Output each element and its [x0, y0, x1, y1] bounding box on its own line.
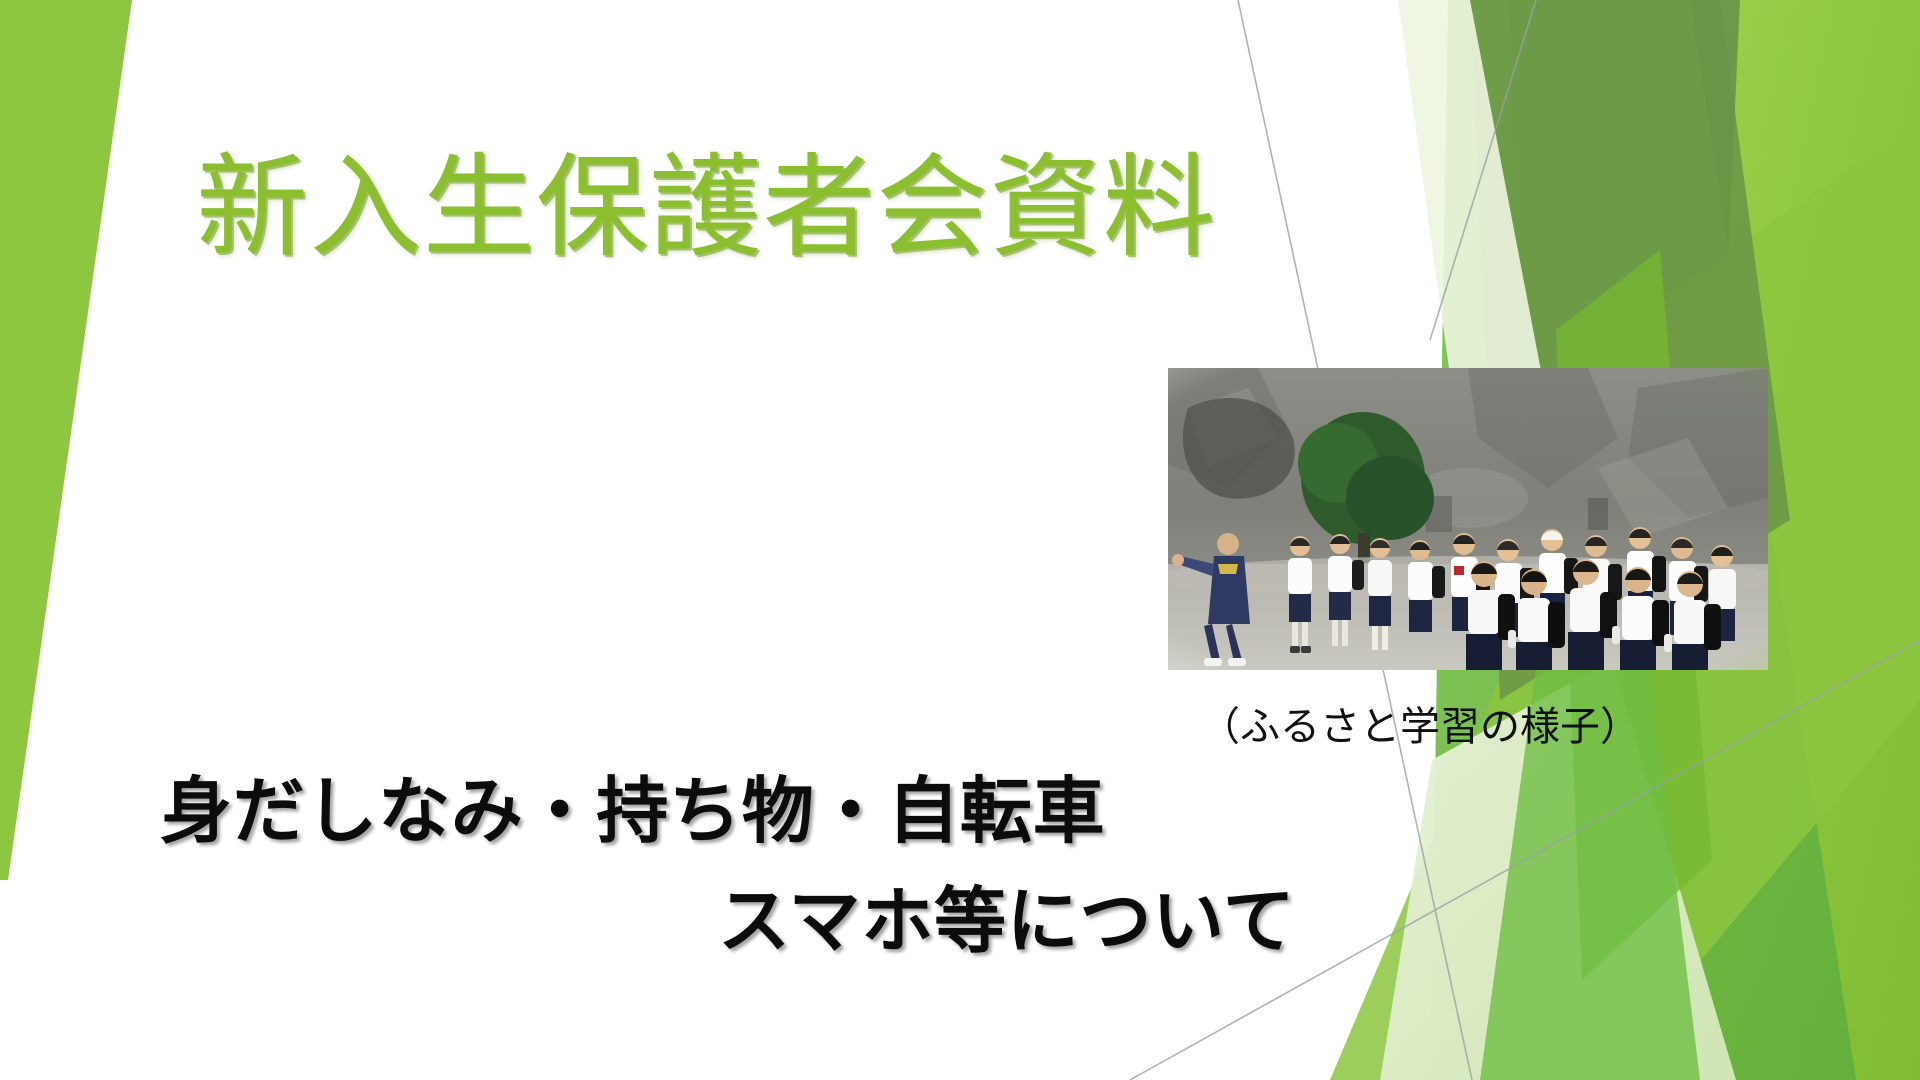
left-wedge-shape: [0, 0, 132, 880]
photo-caption: （ふるさと学習の様子）: [1030, 694, 1640, 752]
page-title: 新入生保護者会資料: [196, 142, 1256, 274]
subtitle-line-2: スマホ等について: [718, 862, 1295, 967]
subtitle-line-1: 身だしなみ・持ち物・自転車: [160, 752, 1105, 857]
fieldtrip-photo-image: [1168, 368, 1768, 670]
presentation-slide: 新入生保護者会資料: [0, 0, 1920, 1080]
photo-figure: [1168, 368, 1768, 670]
photo-illustration: [1168, 368, 1768, 670]
